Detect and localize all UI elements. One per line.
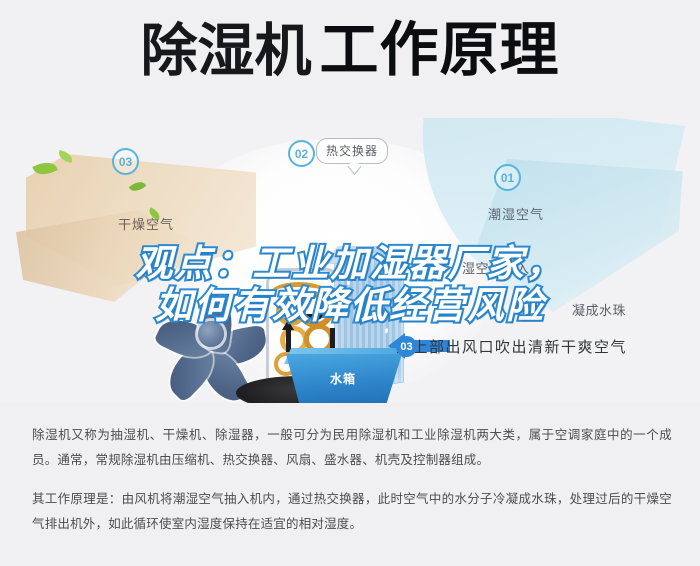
infographic-page: 除湿机工作原理	[0, 0, 700, 566]
refrigerant-flow-arrow	[330, 328, 335, 350]
label-humid-air: 潮湿空气	[488, 204, 544, 223]
caption-03-text: 从上部出风口吹出清新干爽空气	[396, 336, 627, 357]
page-title-part1: 除湿机	[140, 19, 311, 83]
page-title-part2: 工作原理	[319, 17, 559, 83]
fan-illustration	[152, 278, 270, 390]
water-droplet	[373, 292, 376, 297]
page-title: 除湿机工作原理	[0, 18, 700, 83]
caption-row-03: 03 从上部出风口吹出清新干爽空气	[396, 336, 627, 357]
water-droplet	[347, 280, 350, 285]
dehumidifier-diagram: 水箱 03 干燥空气 02 热交换器 01 潮湿空气 湿空气进入 凝成水珠 03…	[0, 118, 700, 403]
article-paragraph-1: 除湿机又称为抽湿机、干燥机、除湿器，一般可分为民用除湿机和工业除湿机两大类，属于…	[32, 422, 672, 472]
water-droplet	[357, 316, 360, 321]
badge-03-dry-air: 03	[112, 148, 139, 175]
refrigerant-flow-arrow	[286, 330, 291, 352]
badge-01-humid-air: 01	[494, 164, 521, 191]
label-heat-exchanger: 热交换器	[316, 138, 388, 164]
badge-02-heat-exchanger: 02	[288, 140, 315, 167]
refrigerant-flow-arrow	[294, 314, 316, 319]
water-tank-label: 水箱	[330, 370, 356, 387]
caption-humid-air-enters: 湿空气进入	[462, 258, 530, 277]
fan-hub	[198, 321, 224, 347]
article-paragraph-2: 其工作原理是：由风机将潮湿空气抽入机内，通过热交换器，此时空气中的水分子冷凝成水…	[32, 486, 672, 536]
label-dry-air: 干燥空气	[118, 214, 174, 233]
badge-03-solid: 03	[396, 336, 417, 357]
article-body: 除湿机又称为抽湿机、干燥机、除湿器，一般可分为民用除湿机和工业除湿机两大类，属于…	[32, 422, 672, 550]
caption-condenses-into-droplets: 凝成水珠	[572, 300, 626, 319]
